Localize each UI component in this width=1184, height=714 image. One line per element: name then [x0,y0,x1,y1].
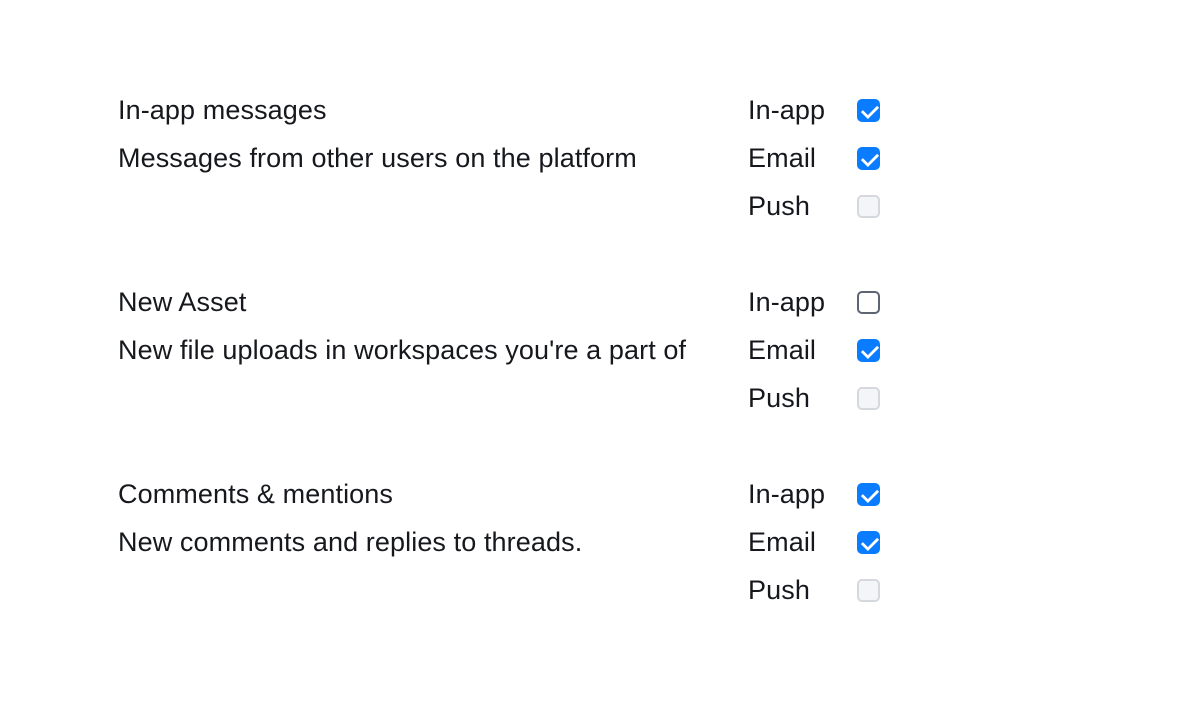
checkmark-icon [861,148,879,166]
channel-label-in-app: In-app [748,470,849,518]
channel-checkbox-in-app[interactable] [857,99,880,122]
preference-description: New file uploads in workspaces you're a … [118,326,748,374]
preference-description: Messages from other users on the platfor… [118,134,748,182]
channel-checkbox-email[interactable] [857,531,880,554]
channel-label-email: Email [748,134,849,182]
channel-label-email: Email [748,518,849,566]
channel-row-in-app: In-app [748,470,880,518]
channel-label-in-app: In-app [748,86,849,134]
preference-info: In-app messages Messages from other user… [0,86,748,182]
channel-row-in-app: In-app [748,86,880,134]
channel-toggle-group: In-app Email Push [748,86,948,230]
channel-toggle-group: In-app Email Push [748,470,948,614]
channel-checkbox-in-app[interactable] [857,483,880,506]
channel-checkbox-push [857,195,880,218]
checkmark-icon [861,100,879,118]
preference-info: Comments & mentions New comments and rep… [0,470,748,566]
channel-row-email: Email [748,134,880,182]
preference-title: New Asset [118,278,748,326]
channel-checkbox-push [857,579,880,602]
channel-row-push: Push [748,566,880,614]
channel-row-email: Email [748,518,880,566]
checkmark-icon [861,532,879,550]
channel-label-push: Push [748,182,849,230]
channel-label-in-app: In-app [748,278,849,326]
channel-row-push: Push [748,374,880,422]
preference-info: New Asset New file uploads in workspaces… [0,278,748,374]
notification-preferences-list: In-app messages Messages from other user… [0,0,1184,714]
channel-toggle-group: In-app Email Push [748,278,948,422]
channel-row-email: Email [748,326,880,374]
preference-title: In-app messages [118,86,748,134]
channel-row-in-app: In-app [748,278,880,326]
channel-label-email: Email [748,326,849,374]
channel-row-push: Push [748,182,880,230]
channel-checkbox-push [857,387,880,410]
notification-preference-group: New Asset New file uploads in workspaces… [0,278,1184,422]
preference-description: New comments and replies to threads. [118,518,748,566]
channel-checkbox-email[interactable] [857,147,880,170]
checkmark-icon [861,340,879,358]
channel-checkbox-email[interactable] [857,339,880,362]
channel-label-push: Push [748,374,849,422]
channel-label-push: Push [748,566,849,614]
checkmark-icon [861,484,879,502]
notification-preference-group: In-app messages Messages from other user… [0,86,1184,230]
preference-title: Comments & mentions [118,470,748,518]
notification-preference-group: Comments & mentions New comments and rep… [0,470,1184,614]
channel-checkbox-in-app[interactable] [857,291,880,314]
